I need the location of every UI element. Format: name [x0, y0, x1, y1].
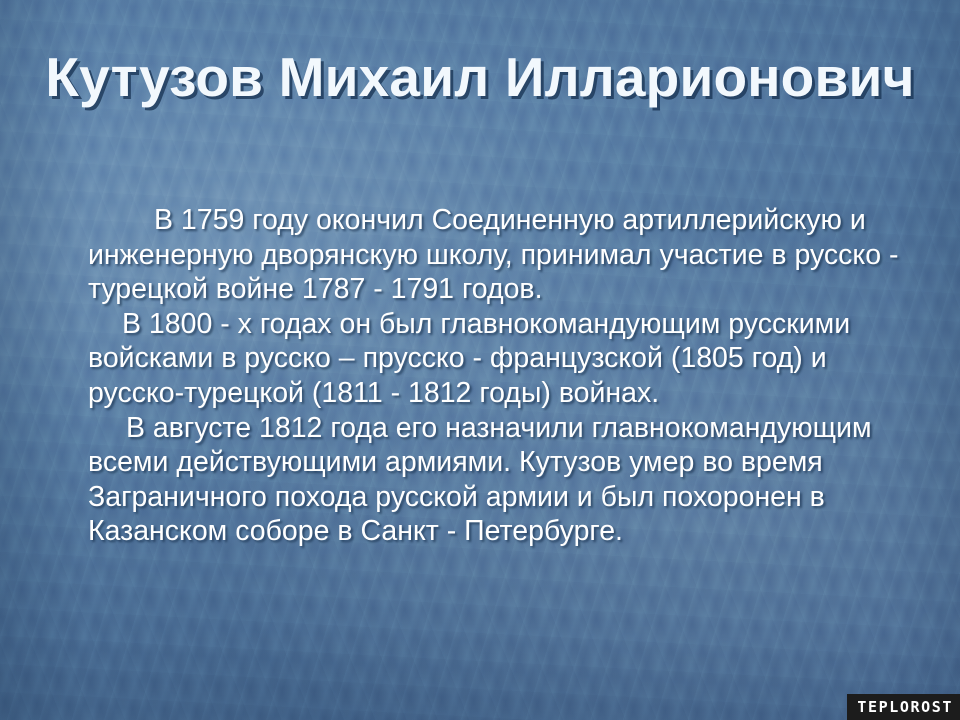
- slide-title: Кутузов Михаил Илларионович: [40, 41, 920, 114]
- presentation-slide: Кутузов Михаил Илларионович В 1759 году …: [0, 0, 960, 720]
- watermark-label: TEPLOROST: [857, 698, 953, 716]
- slide-body-text: В 1759 году окончил Соединенную артиллер…: [88, 203, 908, 549]
- body-paragraph: В 1759 году окончил Соединенную артиллер…: [88, 203, 908, 307]
- watermark-badge: TEPLOROST: [847, 694, 960, 720]
- body-paragraph: В августе 1812 года его назначили главно…: [88, 411, 908, 549]
- body-paragraph: В 1800 - х годах он был главнокомандующи…: [88, 307, 908, 411]
